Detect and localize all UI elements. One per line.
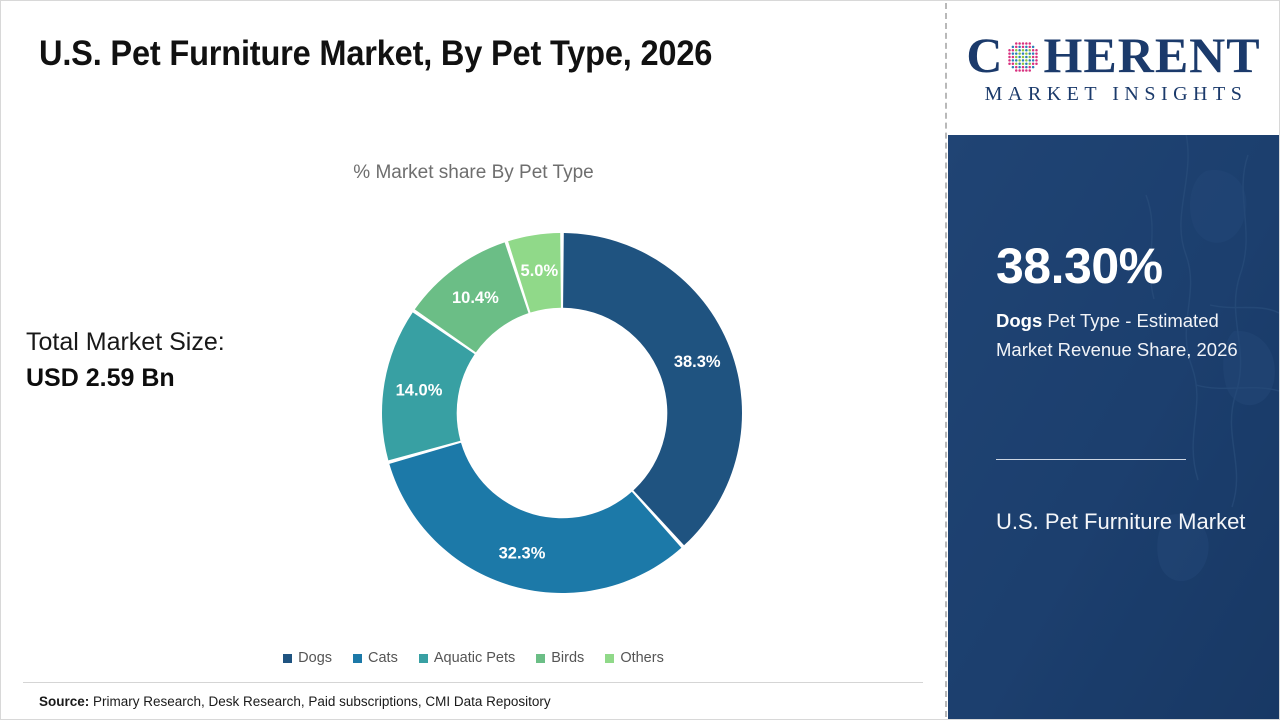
panel-map-texture xyxy=(948,135,1279,719)
globe-dot xyxy=(1032,45,1035,48)
globe-dot xyxy=(1009,52,1012,55)
logo-wordmark: C HERENT xyxy=(966,31,1260,79)
globe-dot xyxy=(1029,42,1032,45)
infographic-root: U.S. Pet Furniture Market, By Pet Type, … xyxy=(0,0,1280,720)
panel-market-name: U.S. Pet Furniture Market xyxy=(996,503,1246,541)
globe-dot xyxy=(1015,69,1018,72)
globe-dot xyxy=(1029,62,1032,65)
globe-dot xyxy=(1015,62,1018,65)
globe-dot xyxy=(1012,45,1015,48)
globe-dot xyxy=(1022,55,1025,58)
globe-dot xyxy=(1012,52,1015,55)
globe-dot xyxy=(1015,45,1018,48)
globe-dot xyxy=(1015,52,1018,55)
globe-dot xyxy=(1036,62,1039,65)
globe-dot xyxy=(1022,65,1025,68)
chart-legend: DogsCatsAquatic PetsBirdsOthers xyxy=(1,650,946,666)
globe-dot xyxy=(1029,65,1032,68)
globe-dot xyxy=(1022,62,1025,65)
globe-dot xyxy=(1012,65,1015,68)
donut-slice-label: 14.0% xyxy=(396,381,443,399)
globe-dot xyxy=(1019,65,1022,68)
globe-dot xyxy=(1012,49,1015,52)
globe-dot xyxy=(1036,59,1039,62)
right-side-panel: C HERENT MARKET INSIGHTS xyxy=(948,1,1279,719)
globe-dot xyxy=(1022,52,1025,55)
globe-dot xyxy=(1029,45,1032,48)
globe-dot xyxy=(1022,45,1025,48)
globe-dot xyxy=(1032,55,1035,58)
donut-chart: 38.3%32.3%14.0%10.4%5.0% xyxy=(377,224,747,602)
globe-dot xyxy=(1019,55,1022,58)
legend-swatch-icon xyxy=(353,654,362,663)
globe-dot xyxy=(1019,59,1022,62)
globe-dot xyxy=(1019,42,1022,45)
legend-item[interactable]: Dogs xyxy=(283,650,332,666)
donut-slice-label: 10.4% xyxy=(452,289,499,307)
legend-label: Others xyxy=(620,650,664,666)
globe-dot xyxy=(1019,52,1022,55)
donut-chart-svg: 38.3%32.3%14.0%10.4%5.0% xyxy=(377,224,747,602)
globe-dot xyxy=(1032,62,1035,65)
globe-dot xyxy=(1036,49,1039,52)
globe-dot xyxy=(1029,55,1032,58)
legend-label: Dogs xyxy=(298,650,332,666)
globe-dot xyxy=(1026,42,1029,45)
page-title: U.S. Pet Furniture Market, By Pet Type, … xyxy=(39,34,839,74)
legend-swatch-icon xyxy=(536,654,545,663)
globe-dot xyxy=(1026,55,1029,58)
globe-dot xyxy=(1026,49,1029,52)
legend-item[interactable]: Birds xyxy=(536,650,584,666)
globe-dot xyxy=(1022,59,1025,62)
footer-source-label: Source: xyxy=(39,694,89,709)
legend-swatch-icon xyxy=(283,654,292,663)
globe-dot xyxy=(1009,62,1012,65)
globe-dot xyxy=(1019,69,1022,72)
total-market-size-label: Total Market Size: xyxy=(26,324,326,360)
globe-dot xyxy=(1012,59,1015,62)
logo-letter-c: C xyxy=(966,31,1003,79)
donut-slice xyxy=(563,233,742,545)
globe-dot xyxy=(1036,55,1039,58)
donut-slice-label: 5.0% xyxy=(521,262,559,280)
footer-source-text: Primary Research, Desk Research, Paid su… xyxy=(89,694,550,709)
globe-dot xyxy=(1015,42,1018,45)
kpi-description: Dogs Pet Type - Estimated Market Revenue… xyxy=(996,307,1258,364)
donut-slice-label: 38.3% xyxy=(674,353,721,371)
globe-dot xyxy=(1015,65,1018,68)
globe-dot xyxy=(1029,59,1032,62)
legend-label: Birds xyxy=(551,650,584,666)
globe-dot xyxy=(1022,49,1025,52)
kpi-highlight-term: Dogs xyxy=(996,310,1042,331)
globe-dot xyxy=(1015,59,1018,62)
legend-swatch-icon xyxy=(419,654,428,663)
globe-dot xyxy=(1026,52,1029,55)
kpi-panel-divider xyxy=(996,459,1186,460)
globe-dot xyxy=(1032,52,1035,55)
globe-dot xyxy=(1029,49,1032,52)
globe-dot xyxy=(1026,65,1029,68)
panel-divider xyxy=(945,3,947,717)
footer-source-note: Source: Primary Research, Desk Research,… xyxy=(39,694,551,709)
globe-dot xyxy=(1029,69,1032,72)
legend-label: Cats xyxy=(368,650,398,666)
globe-dot xyxy=(1036,52,1039,55)
logo-tagline: MARKET INSIGHTS xyxy=(980,83,1248,106)
total-market-size-block: Total Market Size: USD 2.59 Bn xyxy=(26,324,326,396)
legend-swatch-icon xyxy=(605,654,614,663)
globe-dot xyxy=(1009,59,1012,62)
dotted-globe-icon xyxy=(1004,38,1042,76)
donut-slice xyxy=(389,443,681,593)
globe-dot xyxy=(1015,55,1018,58)
globe-dot xyxy=(1019,45,1022,48)
donut-slice-label: 32.3% xyxy=(499,544,546,562)
globe-dot xyxy=(1009,55,1012,58)
kpi-panel: 38.30% Dogs Pet Type - Estimated Market … xyxy=(948,135,1279,719)
globe-dot xyxy=(1026,62,1029,65)
globe-dot xyxy=(1009,49,1012,52)
globe-dot xyxy=(1026,69,1029,72)
globe-dot xyxy=(1015,49,1018,52)
globe-dot xyxy=(1032,59,1035,62)
total-market-size-value: USD 2.59 Bn xyxy=(26,360,326,396)
globe-dot xyxy=(1012,55,1015,58)
chart-main-area: U.S. Pet Furniture Market, By Pet Type, … xyxy=(1,1,946,719)
globe-dot xyxy=(1019,62,1022,65)
globe-dot xyxy=(1032,65,1035,68)
donut-slice-group xyxy=(382,233,742,593)
chart-subtitle: % Market share By Pet Type xyxy=(1,162,946,184)
globe-dot xyxy=(1026,45,1029,48)
legend-item[interactable]: Cats xyxy=(353,650,398,666)
globe-dot xyxy=(1032,49,1035,52)
legend-item[interactable]: Aquatic Pets xyxy=(419,650,515,666)
globe-dot xyxy=(1019,49,1022,52)
footer-divider xyxy=(23,682,923,683)
globe-dot xyxy=(1029,52,1032,55)
globe-dot xyxy=(1022,69,1025,72)
globe-dot xyxy=(1026,59,1029,62)
logo-word-herent: HERENT xyxy=(1043,31,1260,79)
kpi-value: 38.30% xyxy=(996,241,1163,291)
globe-dot xyxy=(1012,62,1015,65)
legend-label: Aquatic Pets xyxy=(434,650,515,666)
legend-item[interactable]: Others xyxy=(605,650,664,666)
brand-logo: C HERENT MARKET INSIGHTS xyxy=(948,1,1279,135)
globe-dot xyxy=(1022,42,1025,45)
